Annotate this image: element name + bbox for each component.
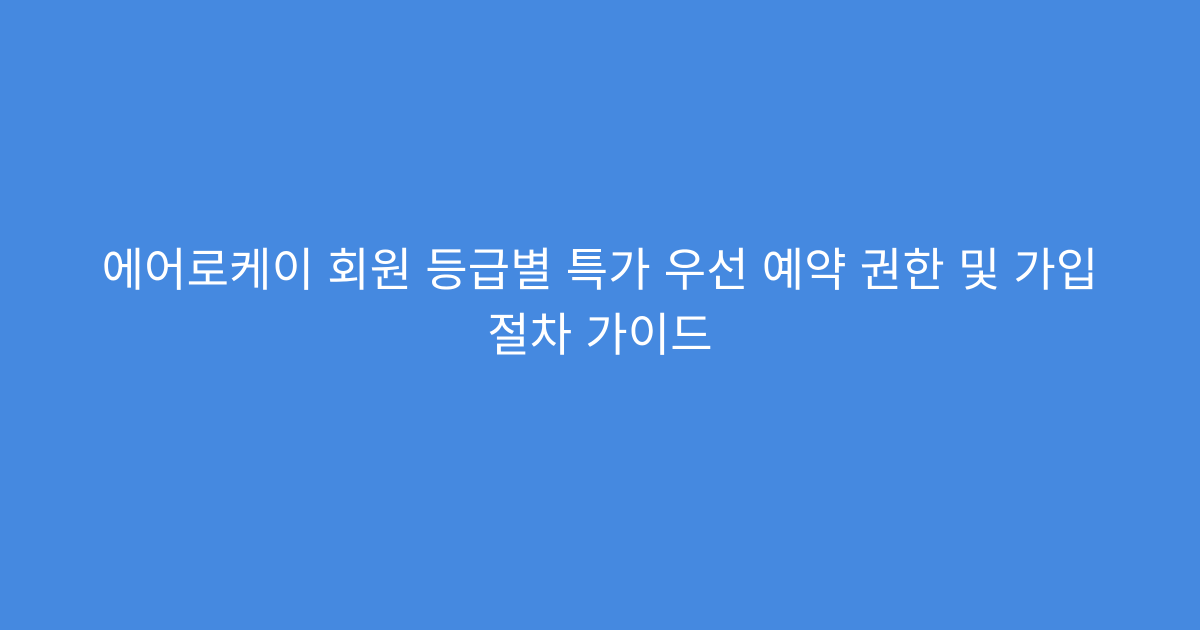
page-title: 에어로케이 회원 등급별 특가 우선 예약 권한 및 가입 절차 가이드: [70, 238, 1130, 368]
title-block: 에어로케이 회원 등급별 특가 우선 예약 권한 및 가입 절차 가이드: [70, 238, 1130, 368]
og-card: 에어로케이 회원 등급별 특가 우선 예약 권한 및 가입 절차 가이드: [0, 0, 1200, 630]
